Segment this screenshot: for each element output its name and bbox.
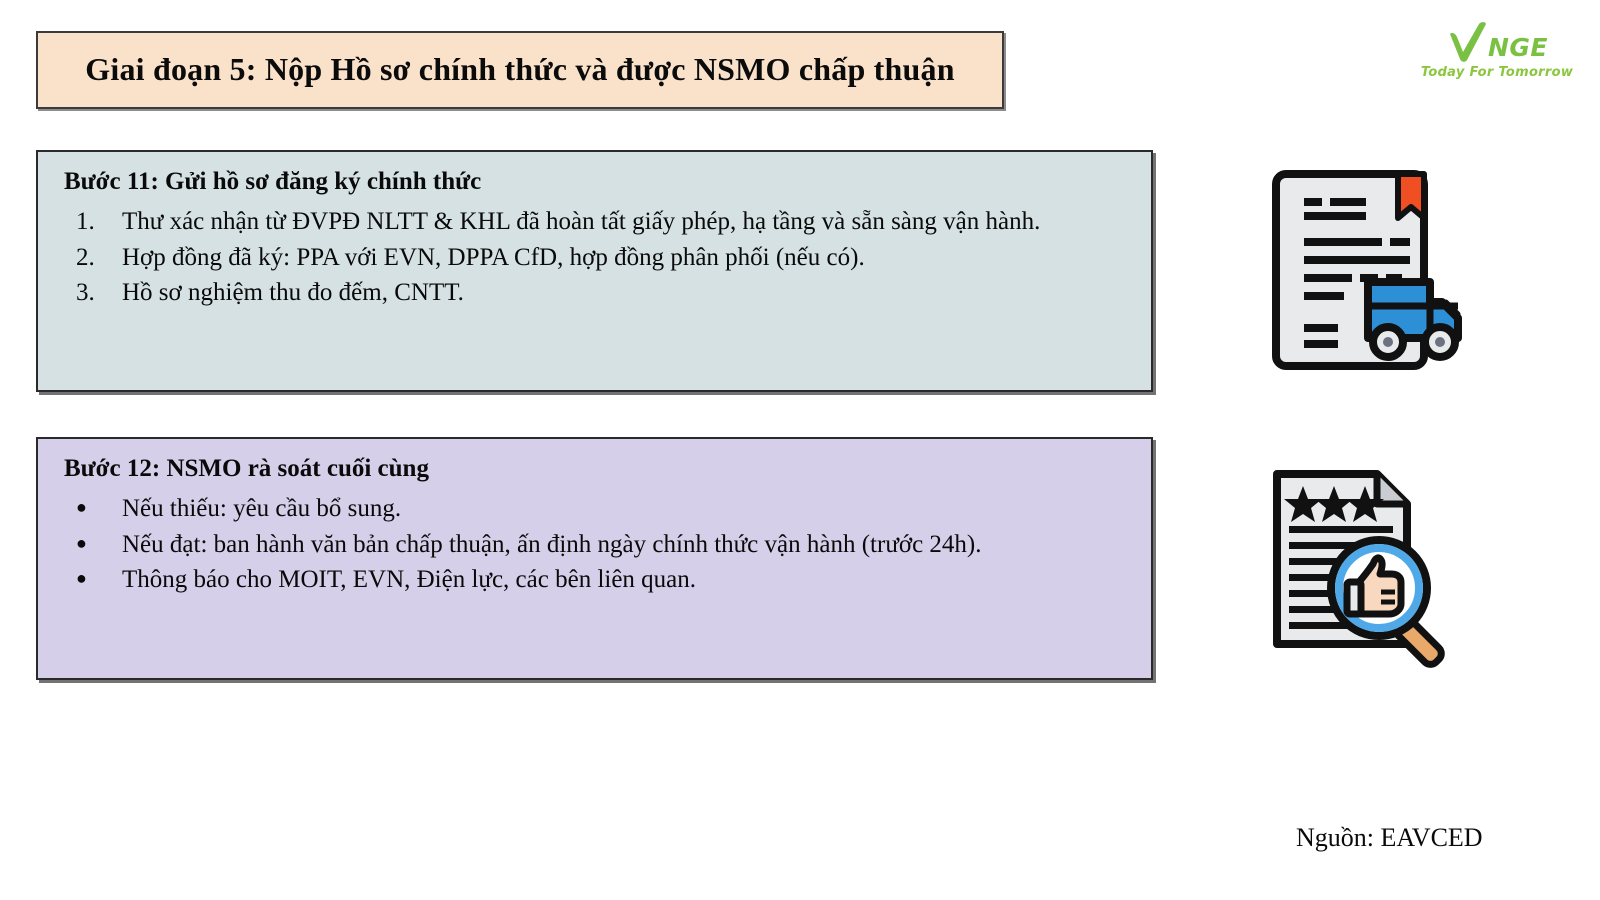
step-12-list: ● Nếu thiếu: yêu cầu bổ sung. ● Nếu đạt:… <box>54 492 1129 597</box>
list-item: ● Thông báo cho MOIT, EVN, Điện lực, các… <box>54 563 1129 597</box>
list-item: ● Nếu thiếu: yêu cầu bổ sung. <box>54 492 1129 526</box>
list-bullet-icon: ● <box>54 528 122 559</box>
page-title: Giai đoạn 5: Nộp Hồ sơ chính thức và đượ… <box>85 52 954 87</box>
slide-canvas: Giai đoạn 5: Nộp Hồ sơ chính thức và đượ… <box>0 0 1600 900</box>
list-item-text: Thông báo cho MOIT, EVN, Điện lực, các b… <box>122 563 1129 597</box>
vnge-logo: NGE Today For Tomorrow <box>1412 20 1582 92</box>
list-item-text: Hợp đồng đã ký: PPA với EVN, DPPA CfD, h… <box>122 241 1129 275</box>
list-marker: 2. <box>54 241 122 275</box>
list-item: 1. Thư xác nhận từ ĐVPĐ NLTT & KHL đã ho… <box>54 205 1129 239</box>
document-with-bookmark-and-delivery-truck-icon <box>1264 166 1464 374</box>
list-item: 3. Hồ sơ nghiệm thu đo đếm, CNTT. <box>54 276 1129 310</box>
step-12-heading: Bước 12: NSMO rà soát cuối cùng <box>64 455 1129 484</box>
list-marker: 3. <box>54 276 122 310</box>
logo-mark: NGE <box>1412 20 1582 62</box>
logo-checkmark-v-icon <box>1446 22 1490 62</box>
list-item-text: Thư xác nhận từ ĐVPĐ NLTT & KHL đã hoàn … <box>122 205 1129 239</box>
list-item: ● Nếu đạt: ban hành văn bản chấp thuận, … <box>54 528 1129 562</box>
list-bullet-icon: ● <box>54 492 122 523</box>
step-box-12: Bước 12: NSMO rà soát cuối cùng ● Nếu th… <box>36 437 1153 680</box>
list-item-text: Nếu đạt: ban hành văn bản chấp thuận, ấn… <box>122 528 1129 562</box>
source-note: Nguồn: EAVCED <box>1296 822 1483 853</box>
list-marker: 1. <box>54 205 122 239</box>
list-bullet-icon: ● <box>54 563 122 594</box>
slide-title-banner: Giai đoạn 5: Nộp Hồ sơ chính thức và đượ… <box>36 31 1004 109</box>
step-box-11: Bước 11: Gửi hồ sơ đăng ký chính thức 1.… <box>36 150 1153 392</box>
document-with-stars-and-magnifier-thumbs-up-icon <box>1255 464 1467 676</box>
step-11-list: 1. Thư xác nhận từ ĐVPĐ NLTT & KHL đã ho… <box>54 205 1129 310</box>
logo-tagline: Today For Tomorrow <box>1412 65 1582 80</box>
list-item: 2. Hợp đồng đã ký: PPA với EVN, DPPA CfD… <box>54 241 1129 275</box>
list-item-text: Hồ sơ nghiệm thu đo đếm, CNTT. <box>122 276 1129 310</box>
logo-wordmark: NGE <box>1488 35 1548 60</box>
list-item-text: Nếu thiếu: yêu cầu bổ sung. <box>122 492 1129 526</box>
step-11-heading: Bước 11: Gửi hồ sơ đăng ký chính thức <box>64 168 1129 197</box>
